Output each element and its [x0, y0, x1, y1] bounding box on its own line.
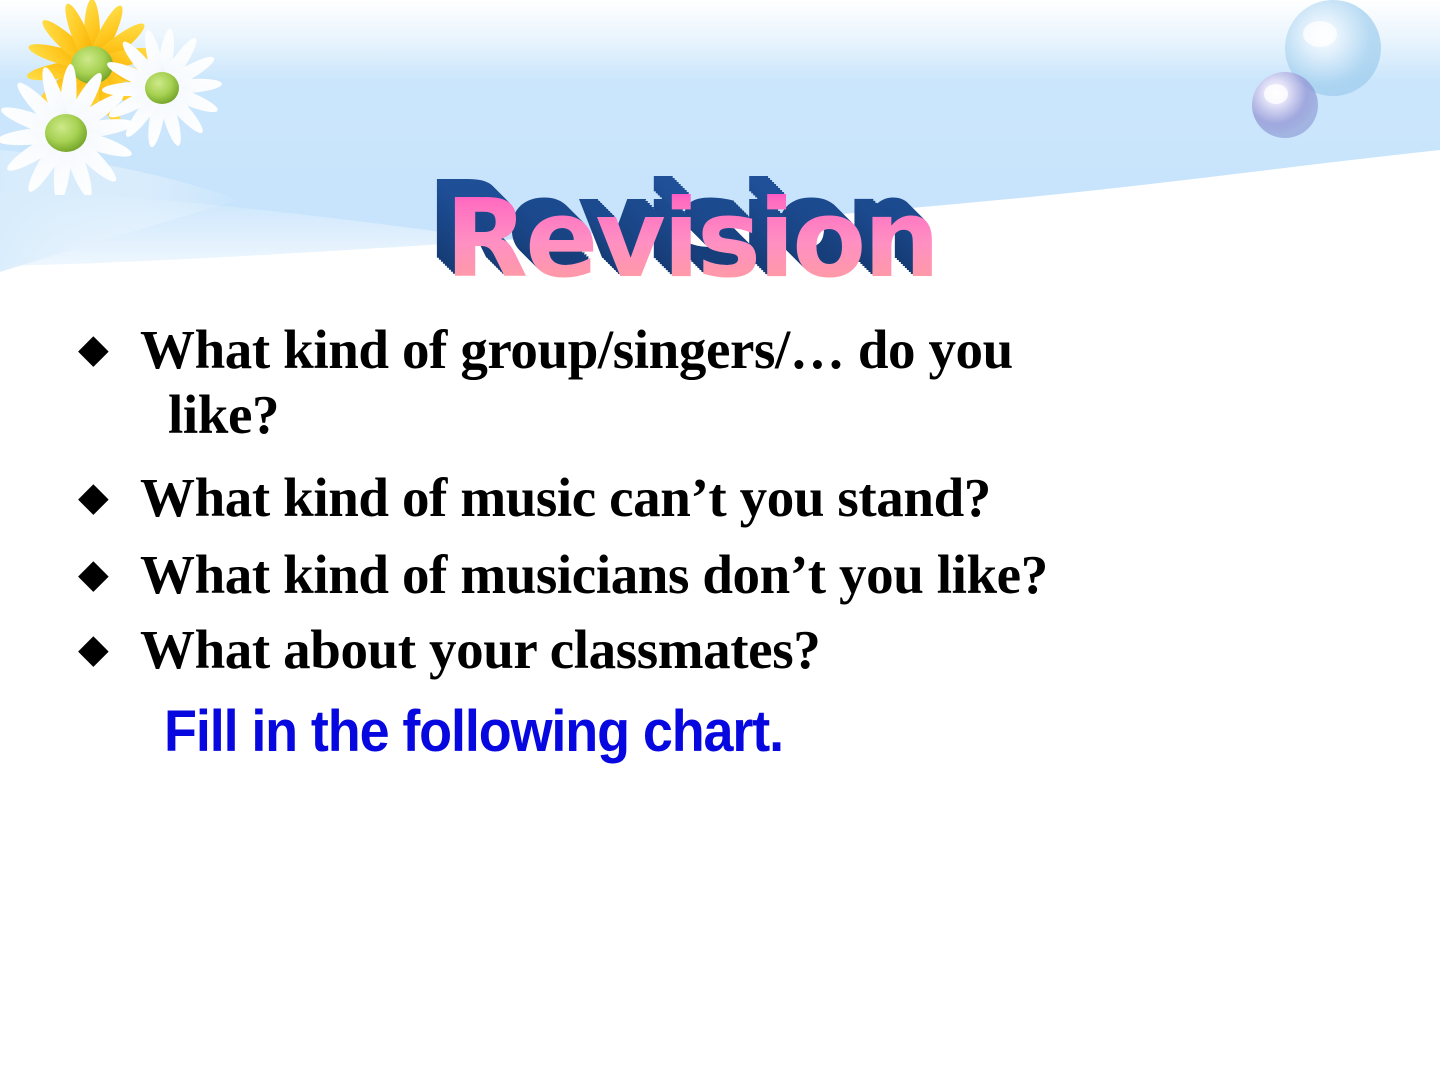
revision-title-svg: Revision Revision Revision Revision Revi…	[410, 148, 1030, 298]
diamond-bullet-icon: ◆	[78, 547, 140, 602]
bullet-item-3-text: What kind of musicians don’t you like?	[140, 547, 1408, 602]
diamond-bullet-icon: ◆	[78, 322, 140, 377]
diamond-bullet-icon: ◆	[78, 470, 140, 525]
bullet-item-1-continuation: like?	[168, 387, 1408, 442]
title-wordart: Revision Revision Revision Revision Revi…	[0, 148, 1440, 298]
bullet-item-4: ◆ What about your classmates?	[78, 622, 1408, 677]
bullet-item-2-text: What kind of music can’t you stand?	[140, 470, 1408, 525]
bullet-item-3: ◆ What kind of musicians don’t you like?	[78, 547, 1408, 602]
bullet-item-4-text: What about your classmates?	[140, 622, 1408, 677]
diamond-bullet-icon: ◆	[78, 622, 140, 677]
bullet-item-1-text: What kind of group/singers/… do you	[140, 322, 1408, 377]
body-text-block: ◆ What kind of group/singers/… do you li…	[78, 322, 1408, 761]
title-front-face: Revision	[445, 177, 937, 298]
slide-canvas: Revision Revision Revision Revision Revi…	[0, 0, 1440, 1080]
bullet-item-2: ◆ What kind of music can’t you stand?	[78, 470, 1408, 525]
instruction-text: Fill in the following chart.	[164, 703, 1321, 761]
bullet-item-1: ◆ What kind of group/singers/… do you	[78, 322, 1408, 377]
